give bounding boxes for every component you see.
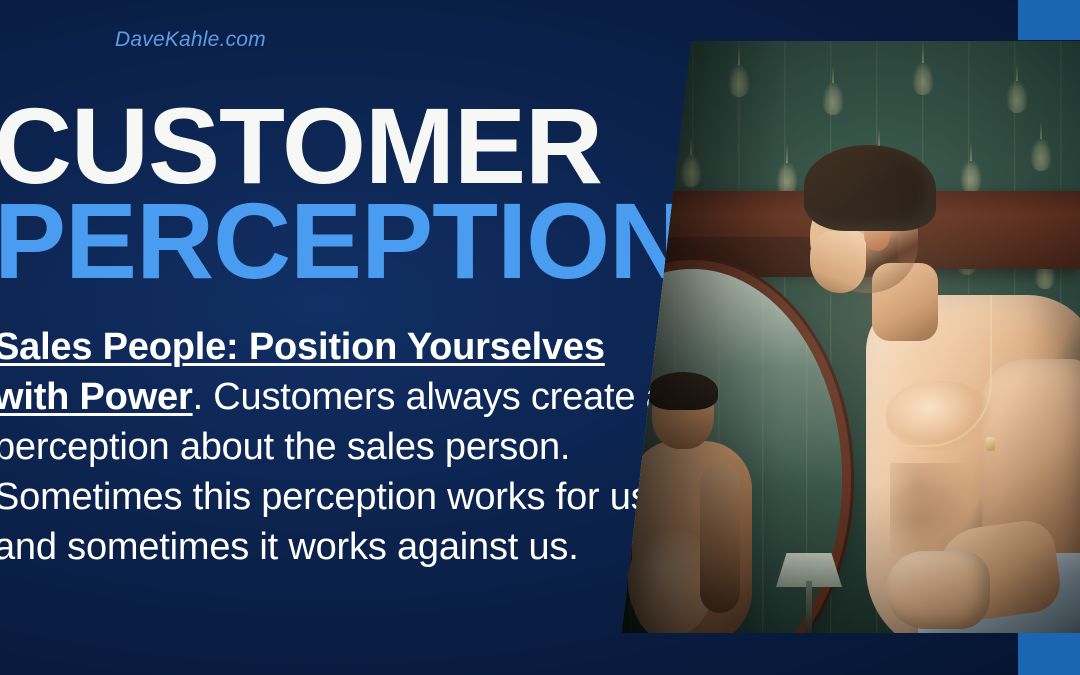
body-paragraph: Sales People: Position Yourselves with P… [0,322,674,572]
slide-canvas: DaveKahle.com CUSTOMER PERCEPTION Sales … [0,0,1080,675]
page-title: CUSTOMER PERCEPTION [0,96,686,291]
accent-bar-top-right [1018,0,1080,40]
brand-logo: DaveKahle.com [115,28,266,52]
headline-line-2: PERCEPTION [0,191,686,290]
accent-bar-bottom-right [1018,633,1080,675]
foreground-figure [768,145,1080,633]
